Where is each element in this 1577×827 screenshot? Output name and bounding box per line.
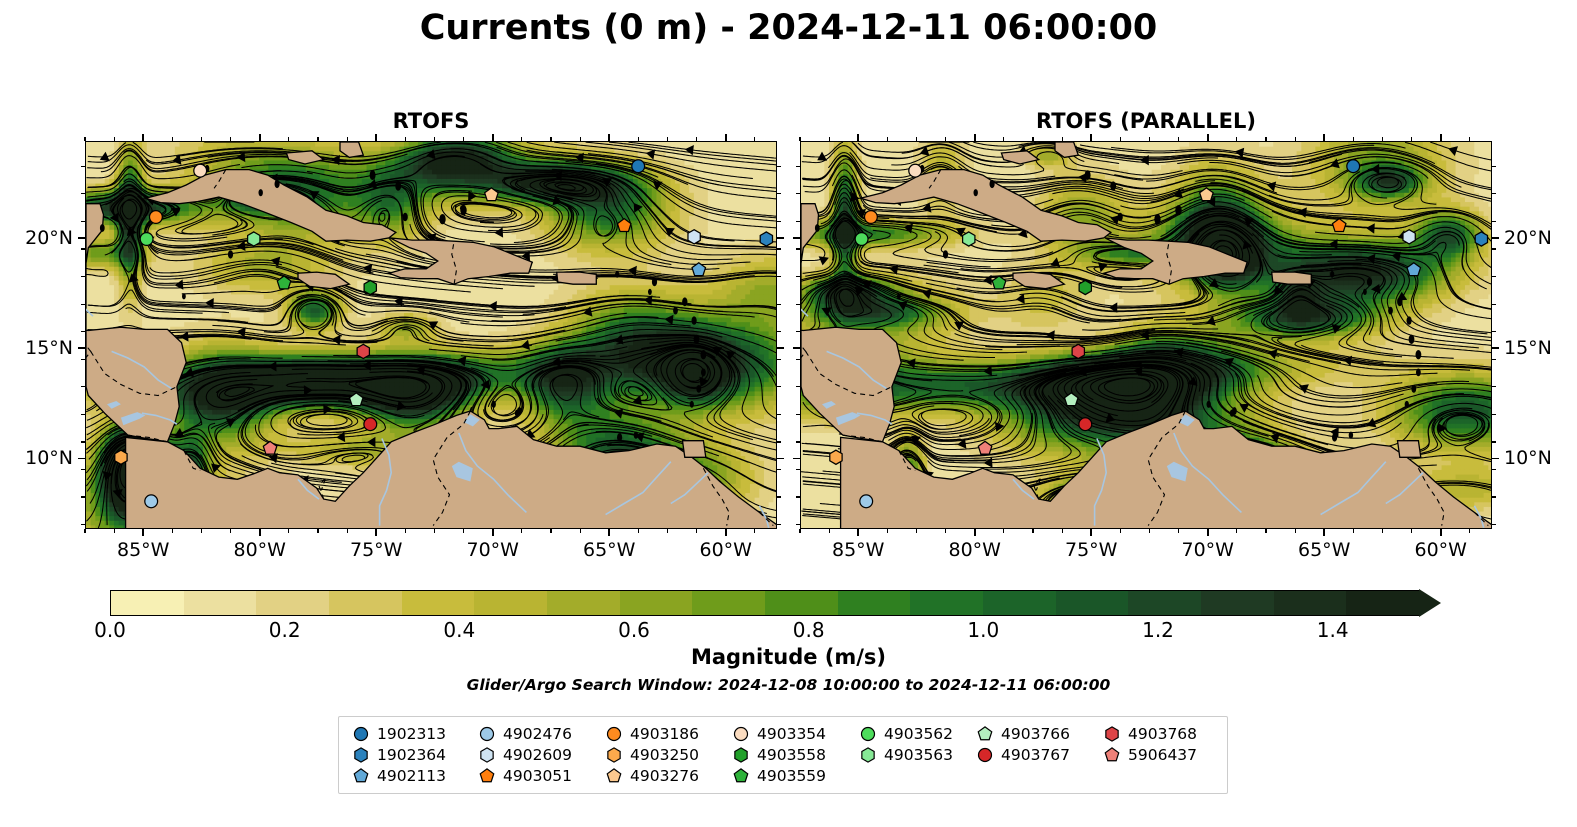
legend-marker-circle-icon: [606, 726, 622, 742]
y-minor-tick: [796, 414, 800, 415]
y-minor-tick: [796, 193, 800, 194]
x-tick-label: 80°W: [949, 539, 1001, 561]
x-minor-tick: [1149, 137, 1150, 141]
x-minor-tick: [609, 529, 610, 533]
legend-entry[interactable]: 4903558: [733, 744, 826, 766]
y-minor-tick: [1492, 441, 1496, 442]
x-minor-tick: [1062, 137, 1063, 141]
y-minor-tick: [777, 221, 781, 222]
x-minor-tick: [1382, 529, 1383, 533]
float-marker-4903768[interactable]: [357, 344, 369, 358]
x-minor-tick: [1003, 529, 1004, 533]
x-minor-tick: [725, 137, 726, 141]
y-minor-tick: [796, 248, 800, 249]
x-minor-tick: [1411, 137, 1412, 141]
y-major-tick: [1492, 458, 1499, 460]
legend-entry[interactable]: 4902476: [479, 723, 572, 745]
x-minor-tick: [667, 529, 668, 533]
x-minor-tick: [1032, 137, 1033, 141]
y-minor-tick: [81, 469, 85, 470]
x-minor-tick: [858, 529, 859, 533]
x-minor-tick: [405, 137, 406, 141]
x-minor-tick: [1440, 137, 1441, 141]
y-minor-tick: [777, 441, 781, 442]
panel-title-rtofs: RTOFS: [85, 109, 777, 133]
x-minor-tick: [858, 137, 859, 141]
search-window-label: Glider/Argo Search Window: 2024-12-08 10…: [0, 676, 1577, 694]
y-minor-tick: [777, 524, 781, 525]
x-minor-tick: [1149, 529, 1150, 533]
x-minor-tick: [1440, 529, 1441, 533]
colorbar[interactable]: 0.00.20.40.60.81.01.21.4: [110, 590, 1450, 616]
x-minor-tick: [1265, 137, 1266, 141]
x-tick-label: 75°W: [1065, 539, 1117, 561]
x-minor-tick: [916, 529, 917, 533]
x-minor-tick: [84, 137, 85, 141]
legend-entry[interactable]: 4903767: [977, 744, 1070, 766]
colorbar-swatch: [111, 591, 184, 615]
y-minor-tick: [777, 496, 781, 497]
glider-argo-legend[interactable]: 1902313190236449021134902476490260949030…: [338, 716, 1228, 794]
legend-marker-pentagon-icon: [479, 768, 495, 784]
legend-label: 4902609: [503, 746, 572, 764]
y-minor-tick: [796, 276, 800, 277]
y-minor-tick: [777, 469, 781, 470]
x-minor-tick: [1207, 137, 1208, 141]
y-minor-tick: [1492, 193, 1496, 194]
x-minor-tick: [201, 137, 202, 141]
legend-label: 4902113: [377, 767, 446, 785]
y-minor-tick: [777, 248, 781, 249]
x-minor-tick: [201, 529, 202, 533]
legend-entry[interactable]: 1902313: [353, 723, 446, 745]
legend-label: 4902476: [503, 725, 572, 743]
x-minor-tick: [829, 529, 830, 533]
x-minor-tick: [172, 137, 173, 141]
legend-marker-hexagon-icon: [733, 747, 749, 763]
x-minor-tick: [1295, 529, 1296, 533]
legend-entry[interactable]: 4902609: [479, 744, 572, 766]
x-minor-tick: [609, 137, 610, 141]
colorbar-swatch: [402, 591, 475, 615]
legend-entry[interactable]: 4903562: [860, 723, 953, 745]
x-minor-tick: [114, 529, 115, 533]
x-tick-label: 85°W: [832, 539, 884, 561]
x-minor-tick: [521, 529, 522, 533]
x-minor-tick: [463, 137, 464, 141]
legend-label: 4903767: [1001, 746, 1070, 764]
x-minor-tick: [1091, 529, 1092, 533]
legend-entry[interactable]: 5906437: [1104, 744, 1197, 766]
float-marker-4903767[interactable]: [1079, 418, 1092, 431]
y-major-tick: [793, 237, 800, 239]
float-marker-1902364[interactable]: [760, 232, 772, 246]
x-minor-tick: [1353, 137, 1354, 141]
legend-label: 4903563: [884, 746, 953, 764]
colorbar-swatch: [1346, 591, 1419, 615]
x-tick-label: 80°W: [234, 539, 286, 561]
x-minor-tick: [1411, 529, 1412, 533]
x-tick-label: 65°W: [1298, 539, 1350, 561]
y-minor-tick: [81, 524, 85, 525]
x-minor-tick: [1062, 529, 1063, 533]
y-minor-tick: [1492, 359, 1496, 360]
x-minor-tick: [288, 529, 289, 533]
colorbar-swatch: [547, 591, 620, 615]
legend-marker-circle-icon: [860, 726, 876, 742]
y-minor-tick: [81, 248, 85, 249]
y-minor-tick: [1492, 469, 1496, 470]
y-tick-label: 15°N: [1, 337, 73, 359]
x-minor-tick: [492, 137, 493, 141]
legend-label: 1902313: [377, 725, 446, 743]
x-minor-tick: [638, 529, 639, 533]
x-minor-tick: [1382, 137, 1383, 141]
y-minor-tick: [796, 469, 800, 470]
float-marker-4903354[interactable]: [909, 164, 922, 177]
y-minor-tick: [1492, 386, 1496, 387]
colorbar-swatch: [765, 591, 838, 615]
x-minor-tick: [1324, 137, 1325, 141]
x-minor-tick: [945, 137, 946, 141]
legend-marker-hexagon-icon: [1104, 726, 1120, 742]
x-minor-tick: [1236, 137, 1237, 141]
float-marker-4903354[interactable]: [194, 164, 207, 177]
legend-marker-circle-icon: [977, 747, 993, 763]
x-minor-tick: [405, 529, 406, 533]
x-minor-tick: [172, 529, 173, 533]
float-marker-4902609[interactable]: [688, 230, 700, 244]
colorbar-swatch: [474, 591, 547, 615]
x-minor-tick: [550, 529, 551, 533]
x-tick-label: 75°W: [350, 539, 402, 561]
float-marker-4902609[interactable]: [1403, 230, 1415, 244]
float-marker-4903250[interactable]: [830, 450, 842, 464]
y-minor-tick: [796, 524, 800, 525]
x-minor-tick: [1120, 137, 1121, 141]
colorbar-swatch: [1128, 591, 1201, 615]
colorbar-swatch: [910, 591, 983, 615]
figure-canvas: Currents (0 m) - 2024-12-11 06:00:00 RTO…: [0, 0, 1577, 827]
y-major-tick: [78, 237, 85, 239]
float-marker-1902313[interactable]: [632, 160, 645, 173]
figure-title: Currents (0 m) - 2024-12-11 06:00:00: [0, 8, 1577, 48]
x-minor-tick: [317, 137, 318, 141]
float-marker-4903768[interactable]: [1072, 344, 1084, 358]
y-minor-tick: [81, 441, 85, 442]
y-tick-label: 20°N: [1, 227, 73, 249]
y-major-tick: [777, 347, 784, 349]
colorbar-swatch: [983, 591, 1056, 615]
float-marker-4903558[interactable]: [364, 280, 376, 294]
colorbar-tick-label: 0.4: [443, 618, 475, 642]
y-minor-tick: [796, 304, 800, 305]
x-minor-tick: [974, 529, 975, 533]
x-minor-tick: [887, 529, 888, 533]
colorbar-extend-arrow: [1419, 589, 1441, 617]
legend-label: 4903562: [884, 725, 953, 743]
colorbar-swatch: [620, 591, 693, 615]
map-axes-rtofs-parallel[interactable]: [800, 141, 1492, 529]
float-marker-1902313[interactable]: [1347, 160, 1360, 173]
x-minor-tick: [1353, 529, 1354, 533]
x-minor-tick: [434, 137, 435, 141]
y-minor-tick: [81, 304, 85, 305]
legend-marker-pentagon-icon: [353, 768, 369, 784]
y-tick-label: 10°N: [1, 447, 73, 469]
x-minor-tick: [945, 529, 946, 533]
colorbar-swatch: [838, 591, 911, 615]
x-minor-tick: [1236, 529, 1237, 533]
x-tick-label: 85°W: [117, 539, 169, 561]
legend-label: 4903051: [503, 767, 572, 785]
legend-marker-hexagon-icon: [479, 747, 495, 763]
x-minor-tick: [434, 529, 435, 533]
x-minor-tick: [143, 137, 144, 141]
x-tick-label: 65°W: [583, 539, 635, 561]
panel-rtofs: RTOFS: [85, 141, 777, 529]
y-major-tick: [777, 237, 784, 239]
legend-marker-hexagon-icon: [860, 747, 876, 763]
x-minor-tick: [1469, 529, 1470, 533]
colorbar-swatch: [1274, 591, 1347, 615]
legend-entry[interactable]: 4903051: [479, 765, 572, 787]
y-minor-tick: [1492, 524, 1496, 525]
colorbar-tick-label: 0.6: [618, 618, 650, 642]
y-minor-tick: [796, 441, 800, 442]
x-minor-tick: [580, 137, 581, 141]
float-marker-4903562[interactable]: [855, 233, 868, 246]
x-minor-tick: [521, 137, 522, 141]
colorbar-tick-label: 0.2: [269, 618, 301, 642]
x-minor-tick: [725, 529, 726, 533]
y-tick-label: 10°N: [1504, 447, 1552, 469]
x-tick-label: 60°W: [700, 539, 752, 561]
x-minor-tick: [754, 137, 755, 141]
y-minor-tick: [81, 496, 85, 497]
x-minor-tick: [317, 529, 318, 533]
legend-entry[interactable]: 4903186: [606, 723, 699, 745]
x-minor-tick: [230, 137, 231, 141]
y-minor-tick: [1492, 166, 1496, 167]
x-minor-tick: [1178, 137, 1179, 141]
legend-marker-pentagon-icon: [733, 768, 749, 784]
x-minor-tick: [1295, 137, 1296, 141]
y-minor-tick: [1492, 221, 1496, 222]
x-minor-tick: [230, 529, 231, 533]
y-minor-tick: [777, 166, 781, 167]
y-minor-tick: [1492, 331, 1496, 332]
legend-entry[interactable]: 4903768: [1104, 723, 1197, 745]
y-minor-tick: [777, 331, 781, 332]
y-minor-tick: [81, 414, 85, 415]
legend-label: 4903276: [630, 767, 699, 785]
map-render: [86, 142, 777, 529]
y-minor-tick: [81, 359, 85, 360]
x-minor-tick: [1207, 529, 1208, 533]
legend-entry[interactable]: 1902364: [353, 744, 446, 766]
float-marker-4903250[interactable]: [115, 450, 127, 464]
x-minor-tick: [1178, 529, 1179, 533]
y-minor-tick: [777, 276, 781, 277]
x-minor-tick: [259, 529, 260, 533]
y-major-tick: [1492, 237, 1499, 239]
y-minor-tick: [777, 414, 781, 415]
legend-label: 4903559: [757, 767, 826, 785]
float-marker-4903562[interactable]: [140, 233, 153, 246]
colorbar-swatch: [692, 591, 765, 615]
float-marker-1902364[interactable]: [1475, 232, 1487, 246]
x-minor-tick: [799, 137, 800, 141]
colorbar-swatch: [329, 591, 402, 615]
float-marker-4903563[interactable]: [963, 232, 975, 246]
legend-label: 4903768: [1128, 725, 1197, 743]
colorbar-tick-label: 1.2: [1142, 618, 1174, 642]
float-marker-4902476[interactable]: [145, 495, 158, 508]
colorbar-tick-label: 1.0: [967, 618, 999, 642]
x-minor-tick: [696, 529, 697, 533]
x-minor-tick: [1032, 529, 1033, 533]
x-minor-tick: [829, 137, 830, 141]
colorbar-title: Magnitude (m/s): [0, 645, 1577, 669]
y-major-tick: [78, 458, 85, 460]
x-minor-tick: [259, 137, 260, 141]
legend-label: 4903766: [1001, 725, 1070, 743]
colorbar-swatch: [184, 591, 257, 615]
x-minor-tick: [974, 137, 975, 141]
x-minor-tick: [638, 137, 639, 141]
x-minor-tick: [347, 137, 348, 141]
x-tick-label: 70°W: [467, 539, 519, 561]
legend-marker-hexagon-icon: [606, 747, 622, 763]
x-tick-label: 70°W: [1182, 539, 1234, 561]
x-minor-tick: [1324, 529, 1325, 533]
legend-label: 5906437: [1128, 746, 1197, 764]
legend-entry[interactable]: 4903276: [606, 765, 699, 787]
colorbar-swatch: [1056, 591, 1129, 615]
y-minor-tick: [81, 276, 85, 277]
y-minor-tick: [81, 331, 85, 332]
colorbar-tick-label: 0.8: [793, 618, 825, 642]
float-marker-4903563[interactable]: [248, 232, 260, 246]
float-marker-4903186[interactable]: [865, 211, 878, 224]
y-minor-tick: [1492, 248, 1496, 249]
x-minor-tick: [550, 137, 551, 141]
y-minor-tick: [777, 386, 781, 387]
map-render: [801, 142, 1492, 529]
y-tick-label: 20°N: [1504, 227, 1552, 249]
y-minor-tick: [81, 386, 85, 387]
y-minor-tick: [81, 166, 85, 167]
legend-entry[interactable]: 4902113: [353, 765, 446, 787]
legend-entry[interactable]: 4903250: [606, 744, 699, 766]
x-minor-tick: [376, 137, 377, 141]
y-minor-tick: [777, 193, 781, 194]
y-major-tick: [777, 458, 784, 460]
x-minor-tick: [463, 529, 464, 533]
y-minor-tick: [777, 304, 781, 305]
y-major-tick: [1492, 347, 1499, 349]
legend-label: 4903354: [757, 725, 826, 743]
x-minor-tick: [492, 529, 493, 533]
x-minor-tick: [143, 529, 144, 533]
y-minor-tick: [796, 221, 800, 222]
x-minor-tick: [376, 529, 377, 533]
legend-marker-circle-icon: [353, 726, 369, 742]
x-minor-tick: [580, 529, 581, 533]
x-minor-tick: [1265, 529, 1266, 533]
y-major-tick: [793, 458, 800, 460]
x-minor-tick: [667, 137, 668, 141]
x-minor-tick: [1469, 137, 1470, 141]
y-minor-tick: [796, 359, 800, 360]
legend-label: 4903250: [630, 746, 699, 764]
x-minor-tick: [347, 529, 348, 533]
colorbar-tick-label: 1.4: [1317, 618, 1349, 642]
legend-marker-hexagon-icon: [353, 747, 369, 763]
x-minor-tick: [754, 529, 755, 533]
x-minor-tick: [1003, 137, 1004, 141]
legend-marker-circle-icon: [479, 726, 495, 742]
x-tick-label: 60°W: [1415, 539, 1467, 561]
y-minor-tick: [81, 221, 85, 222]
x-minor-tick: [84, 529, 85, 533]
y-minor-tick: [1492, 414, 1496, 415]
colorbar-swatch: [1201, 591, 1274, 615]
x-minor-tick: [114, 137, 115, 141]
colorbar-gradient: [110, 590, 1420, 616]
float-marker-4902476[interactable]: [860, 495, 873, 508]
float-marker-4903186[interactable]: [150, 211, 163, 224]
legend-marker-pentagon-icon: [606, 768, 622, 784]
x-minor-tick: [1091, 137, 1092, 141]
map-axes-rtofs[interactable]: [85, 141, 777, 529]
y-minor-tick: [796, 166, 800, 167]
y-minor-tick: [777, 359, 781, 360]
legend-label: 4903186: [630, 725, 699, 743]
legend-marker-circle-icon: [733, 726, 749, 742]
y-minor-tick: [796, 496, 800, 497]
y-minor-tick: [1492, 304, 1496, 305]
float-marker-4903767[interactable]: [364, 418, 377, 431]
x-minor-tick: [887, 137, 888, 141]
x-minor-tick: [288, 137, 289, 141]
y-minor-tick: [81, 193, 85, 194]
panel-rtofs-parallel: RTOFS (PARALLEL): [800, 141, 1492, 529]
y-major-tick: [78, 347, 85, 349]
x-minor-tick: [799, 529, 800, 533]
x-minor-tick: [696, 137, 697, 141]
x-minor-tick: [916, 137, 917, 141]
legend-entry[interactable]: 4903766: [977, 723, 1070, 745]
legend-label: 1902364: [377, 746, 446, 764]
legend-label: 4903558: [757, 746, 826, 764]
legend-entry[interactable]: 4903354: [733, 723, 826, 745]
y-minor-tick: [796, 386, 800, 387]
y-minor-tick: [1492, 276, 1496, 277]
legend-entry[interactable]: 4903559: [733, 765, 826, 787]
y-minor-tick: [796, 331, 800, 332]
x-minor-tick: [1120, 529, 1121, 533]
panel-title-rtofs-parallel: RTOFS (PARALLEL): [800, 109, 1492, 133]
colorbar-tick-label: 0.0: [94, 618, 126, 642]
legend-marker-pentagon-icon: [1104, 747, 1120, 763]
y-major-tick: [793, 347, 800, 349]
colorbar-swatch: [256, 591, 329, 615]
legend-entry[interactable]: 4903563: [860, 744, 953, 766]
legend-marker-pentagon-icon: [977, 726, 993, 742]
float-marker-4903558[interactable]: [1079, 280, 1091, 294]
